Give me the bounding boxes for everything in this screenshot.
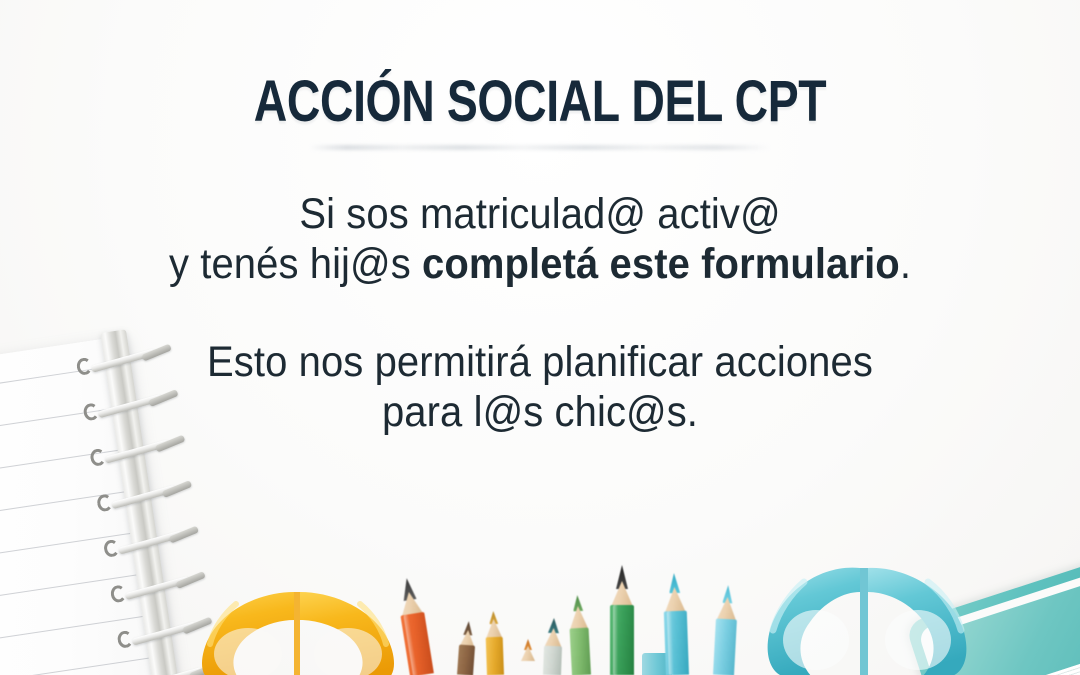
paragraph-2-line-1: Esto nos permitirá planificar acciones <box>38 338 1042 388</box>
paragraph-1-line-2: y tenés hij@s completá este formulario. <box>38 240 1042 290</box>
small-orange-pencil <box>521 639 535 675</box>
paragraph-2-line-2: para l@s chic@s. <box>38 388 1042 438</box>
paragraph-2: Esto nos permitirá planificar acciones p… <box>38 338 1042 438</box>
line-2-prefix: y tenés hij@s <box>169 240 422 288</box>
brown-pencil <box>457 621 477 675</box>
green-pencil <box>610 565 634 675</box>
yellow-scissors <box>196 588 406 675</box>
yellow-pencil <box>485 611 504 675</box>
paragraph-1-line-1: Si sos matriculad@ activ@ <box>38 190 1042 240</box>
title-underline-shadow <box>310 145 770 150</box>
page-title: ACCIÓN SOCIAL DEL CPT <box>108 68 972 135</box>
poster-text-layer: ACCIÓN SOCIAL DEL CPT Si sos matriculad@… <box>0 0 1080 440</box>
cyan-pencil <box>662 573 689 675</box>
line-2-suffix: . <box>900 240 911 288</box>
turquoise-scissors <box>760 562 975 675</box>
light-green-pencil <box>568 595 591 675</box>
line-2-bold-emphasis: completá este formulario <box>422 240 900 288</box>
poster-canvas: ACCIÓN SOCIAL DEL CPT Si sos matriculad@… <box>0 0 1080 675</box>
poster-body: Si sos matriculad@ activ@ y tenés hij@s … <box>38 190 1042 438</box>
light-blue-pencil <box>713 585 739 675</box>
paragraph-1: Si sos matriculad@ activ@ y tenés hij@s … <box>38 190 1042 290</box>
dark-teal-pencil <box>543 618 563 675</box>
